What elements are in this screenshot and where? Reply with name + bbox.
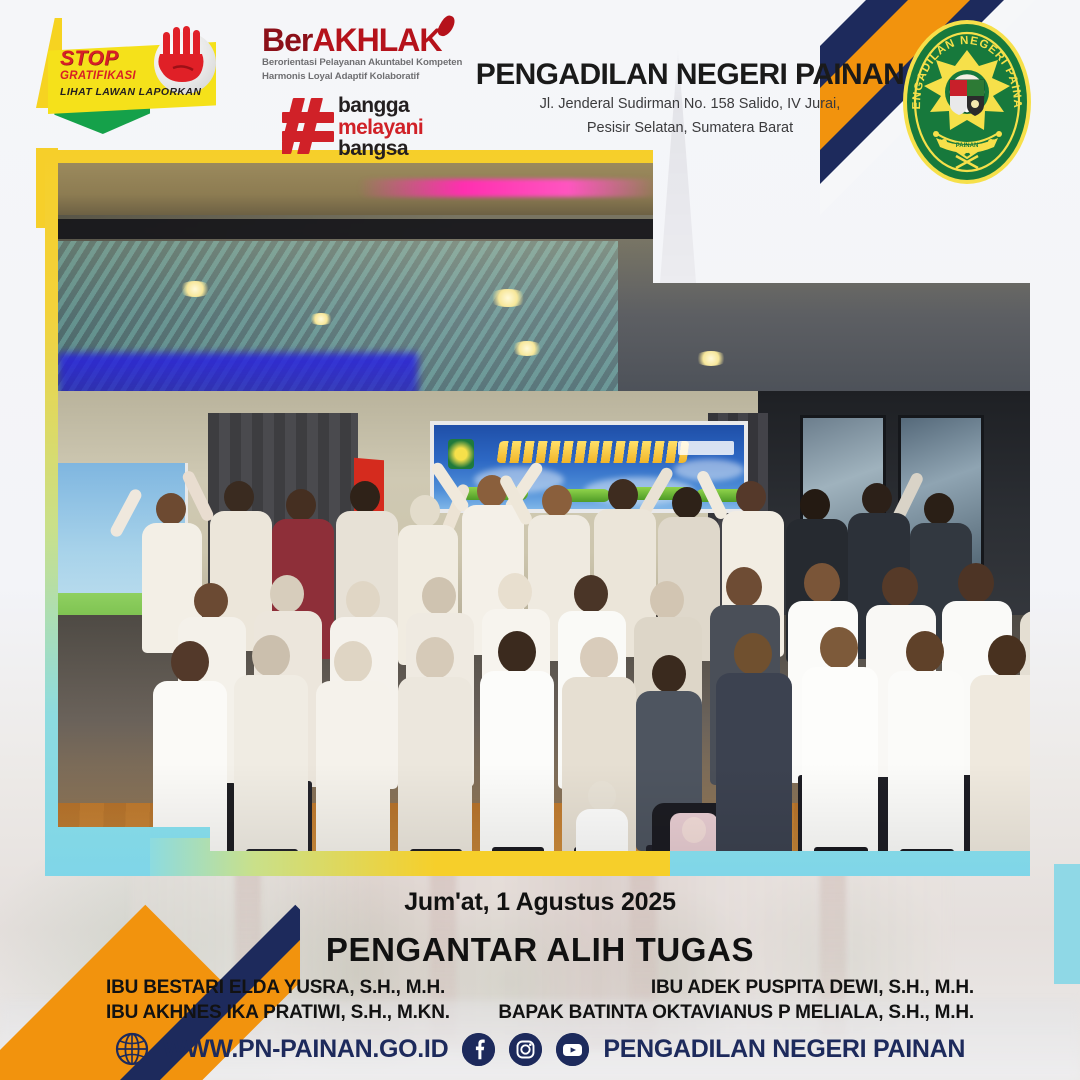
- berakhlak-suffix: AKHLAK: [312, 22, 441, 58]
- footer-bar: WWW.PN-PAINAN.GO.ID PENGADILAN NEGERI PA…: [0, 1026, 1080, 1072]
- court-emblem-icon: PENGADILAN NEGERI PAINAN PAINAN: [900, 14, 1034, 186]
- facebook-icon[interactable]: [462, 1033, 495, 1066]
- berakhlak-logo: BerAKHLAK Berorientasi Pelayanan Akuntab…: [262, 24, 462, 83]
- badge-line-grat: GRATIFIKASI: [60, 69, 190, 85]
- names-column-right: IBU ADEK PUSPITA DEWI, S.H., M.H. BAPAK …: [498, 975, 974, 1025]
- hashtag-icon: [282, 98, 334, 154]
- bangga-melayani-logo: bangga melayani bangsa: [282, 96, 462, 156]
- header-title-block: PENGADILAN NEGERI PAINAN Jl. Jenderal Su…: [470, 58, 910, 138]
- caption-block: Jum'at, 1 Agustus 2025 PENGANTAR ALIH TU…: [0, 888, 1080, 969]
- page-title: PENGADILAN NEGERI PAINAN: [470, 58, 910, 91]
- berakhlak-wordmark: BerAKHLAK: [262, 24, 441, 56]
- event-date: Jum'at, 1 Agustus 2025: [0, 888, 1080, 917]
- badge-text: STOP GRATIFIKASI LIHAT LAWAN LAPORKAN: [60, 48, 190, 98]
- bangga-line-1: bangga: [338, 95, 423, 117]
- instagram-icon[interactable]: [509, 1033, 542, 1066]
- berakhlak-tagline-1: Berorientasi Pelayanan Akuntabel Kompete…: [262, 56, 462, 70]
- youtube-icon[interactable]: [556, 1033, 589, 1066]
- address-line-2: Pesisir Selatan, Sumatera Barat: [470, 119, 910, 139]
- poster-canvas: STOP GRATIFIKASI LIHAT LAWAN LAPORKAN Be…: [0, 0, 1080, 1080]
- event-title: PENGANTAR ALIH TUGAS: [0, 931, 1080, 969]
- group-photo: [58, 163, 1030, 863]
- berakhlak-tick-icon: [435, 14, 459, 37]
- bangga-lines: bangga melayani bangsa: [338, 95, 423, 160]
- svg-text:PAINAN: PAINAN: [956, 143, 979, 149]
- badge-line-stop: STOP: [60, 48, 190, 69]
- address-line-1: Jl. Jenderal Sudirman No. 158 Salido, IV…: [470, 95, 910, 115]
- stop-gratifikasi-badge: STOP GRATIFIKASI LIHAT LAWAN LAPORKAN: [48, 28, 220, 138]
- badge-line-report: LIHAT LAWAN LAPORKAN: [60, 86, 190, 98]
- name-item: IBU ADEK PUSPITA DEWI, S.H., M.H.: [498, 975, 974, 1000]
- organization-name: PENGADILAN NEGERI PAINAN: [603, 1035, 965, 1064]
- name-item: IBU AKHNES IKA PRATIWI, S.H., M.KN.: [106, 1000, 450, 1025]
- names-block: IBU BESTARI ELDA YUSRA, S.H., M.H. IBU A…: [0, 975, 1080, 1025]
- berakhlak-prefix: Ber: [262, 22, 312, 58]
- names-column-left: IBU BESTARI ELDA YUSRA, S.H., M.H. IBU A…: [106, 975, 450, 1025]
- berakhlak-tagline-2: Harmonis Loyal Adaptif Kolaboratif: [262, 70, 462, 84]
- bangga-line-2: melayani: [338, 117, 423, 139]
- poster-header: STOP GRATIFIKASI LIHAT LAWAN LAPORKAN Be…: [0, 0, 1080, 150]
- name-item: IBU BESTARI ELDA YUSRA, S.H., M.H.: [106, 975, 450, 1000]
- globe-icon: [115, 1032, 149, 1066]
- website-url[interactable]: WWW.PN-PAINAN.GO.ID: [163, 1035, 448, 1064]
- bangga-line-3: bangsa: [338, 138, 423, 160]
- name-item: BAPAK BATINTA OKTAVIANUS P MELIALA, S.H.…: [498, 1000, 974, 1025]
